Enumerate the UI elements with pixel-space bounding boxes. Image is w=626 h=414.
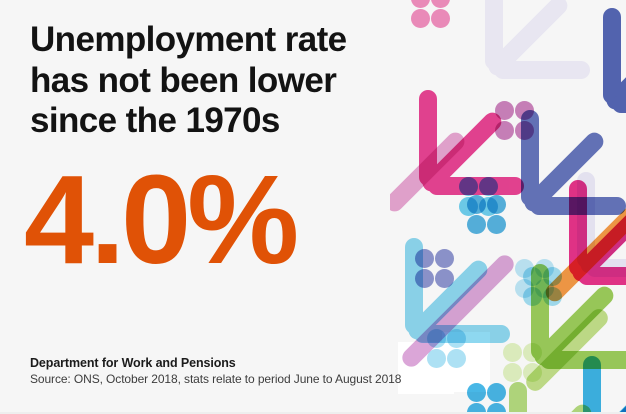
statistic-value: 4.0% (24, 157, 295, 283)
decorative-graphic-panel (390, 0, 626, 414)
headline-line-2-regular: has not been (30, 61, 248, 100)
headline-line-1: Unemployment rate (30, 20, 347, 59)
infographic-card: Unemployment rate has not been lower sin… (0, 0, 626, 414)
headline-line-2-strong: lower (248, 61, 336, 100)
headline-line-3: since the 1970s (30, 101, 280, 140)
footer: Department for Work and Pensions Source:… (30, 356, 510, 386)
page-title: Unemployment rate has not been lower sin… (30, 20, 420, 142)
source-note: Source: ONS, October 2018, stats relate … (30, 372, 510, 386)
department-name: Department for Work and Pensions (30, 356, 510, 370)
